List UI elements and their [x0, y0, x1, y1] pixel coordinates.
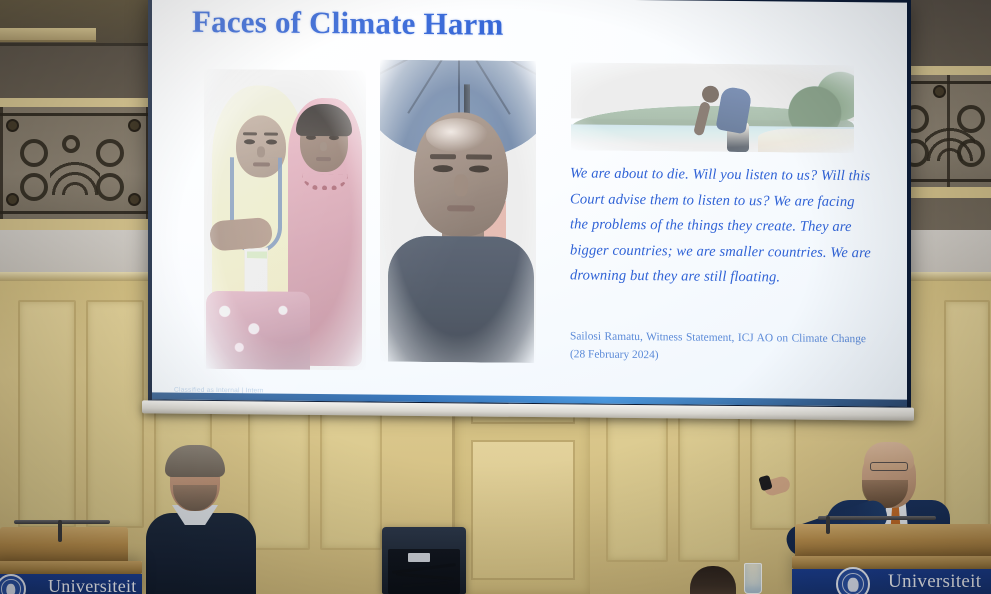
auditorium-scene: Faces of Climate Harm — [0, 0, 991, 594]
wall-panel — [944, 300, 990, 540]
glasses-icon — [870, 462, 908, 471]
man-torso — [388, 236, 534, 363]
man-head — [414, 112, 508, 237]
photo-shoreline — [571, 62, 854, 153]
confidence-monitor — [382, 527, 466, 594]
university-seal-icon — [836, 567, 870, 594]
right-podium-ledge — [792, 556, 991, 569]
left-podium-wordmark: Universiteit — [48, 576, 137, 594]
right-lectern — [795, 524, 991, 560]
projection-screen-assembly: Faces of Climate Harm — [148, 0, 911, 428]
photo-mother-child — [204, 69, 366, 371]
lectern-microphone — [14, 520, 110, 524]
microphone-stem — [58, 520, 62, 542]
child-arm — [209, 217, 273, 252]
shoreline-sand — [758, 128, 854, 153]
quote-attribution: Sailosi Ramatu, Witness Statement, ICJ A… — [570, 327, 866, 366]
door-lower-panel — [471, 440, 575, 580]
cornice-moulding — [0, 28, 96, 42]
left-podium-banner: Universiteit — [0, 561, 142, 594]
child-hair — [296, 104, 352, 137]
wall-panel — [86, 300, 144, 528]
photo-man-umbrella — [380, 60, 536, 363]
monitor-sticker — [408, 553, 430, 562]
lectern-microphone — [818, 516, 936, 520]
presentation-slide: Faces of Climate Harm — [152, 0, 907, 407]
sari-lower — [206, 291, 310, 370]
speaker-at-left-lectern — [140, 447, 262, 594]
balcony-railing-left — [0, 98, 154, 230]
left-lectern — [0, 527, 128, 565]
left-speaker-hair — [165, 445, 225, 477]
wall-panel — [18, 300, 76, 528]
shoreline-person-head — [702, 86, 719, 103]
left-speaker-torso — [146, 513, 256, 594]
right-podium-banner: Universiteit — [792, 556, 991, 594]
left-podium-ledge — [0, 561, 142, 574]
projection-screen: Faces of Climate Harm — [148, 0, 911, 412]
microphone-stem — [826, 516, 830, 534]
child-necklace — [302, 174, 348, 190]
id-badge — [244, 247, 268, 293]
slide-title: Faces of Climate Harm — [192, 4, 504, 43]
water-glass — [744, 563, 762, 594]
right-podium-wordmark: Universiteit — [888, 571, 981, 593]
witness-quote: We are about to die. Will you listen to … — [570, 161, 876, 291]
